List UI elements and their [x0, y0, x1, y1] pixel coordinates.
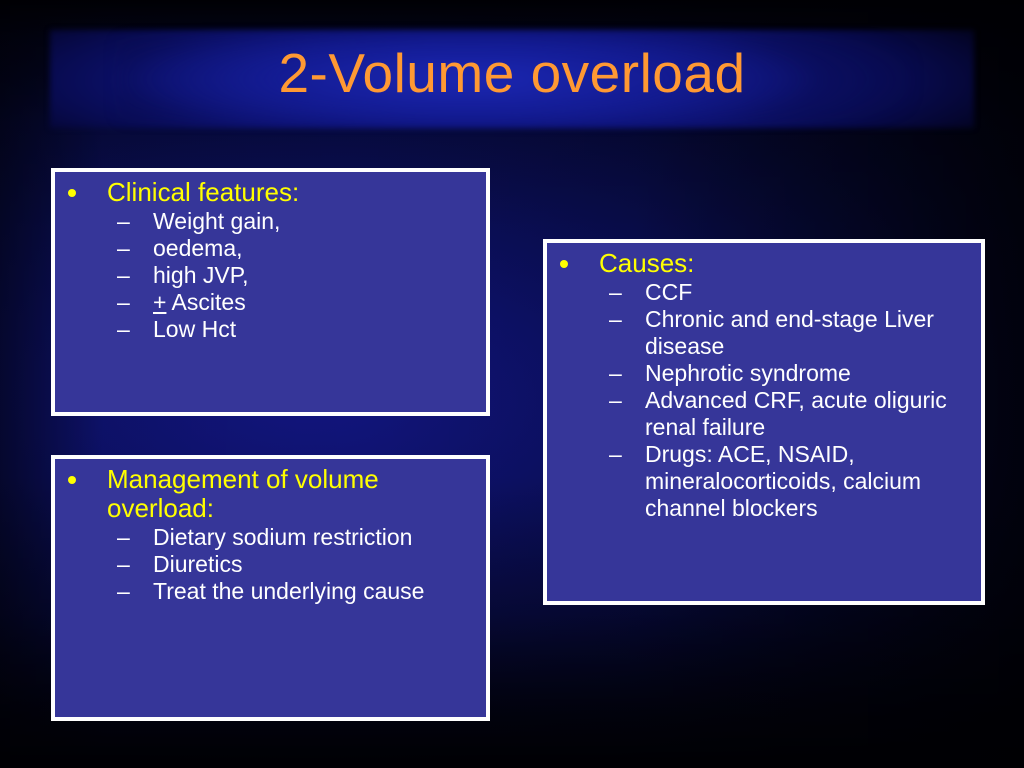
en-dash-icon: – — [609, 387, 622, 414]
en-dash-icon: – — [609, 306, 622, 333]
list-item: – Weight gain, — [61, 208, 478, 235]
list-item-label: Low Hct — [153, 316, 236, 342]
en-dash-icon: – — [117, 524, 130, 551]
list-item-label: oedema, — [153, 235, 243, 261]
en-dash-icon: – — [609, 360, 622, 387]
causes-content: Causes: – CCF – Chronic and end-stage Li… — [547, 243, 981, 528]
list-item: – Diuretics — [61, 551, 478, 578]
en-dash-icon: – — [609, 279, 622, 306]
list-item: – Drugs: ACE, NSAID, mineralocorticoids,… — [553, 441, 973, 522]
en-dash-icon: – — [117, 578, 130, 605]
list-item: – oedema, — [61, 235, 478, 262]
management-heading: Management of volume overload: — [61, 465, 478, 523]
list-item-label: high JVP, — [153, 262, 248, 288]
list-item: – Low Hct — [61, 316, 478, 343]
list-item-label: Ascites — [166, 289, 245, 315]
causes-heading: Causes: — [553, 249, 973, 278]
list-item: – Advanced CRF, acute oliguric renal fai… — [553, 387, 973, 441]
bullet-dot-icon — [68, 189, 76, 197]
list-item-label: Weight gain, — [153, 208, 280, 234]
en-dash-icon: – — [117, 551, 130, 578]
management-content: Management of volume overload: – Dietary… — [55, 459, 486, 611]
list-item: – Dietary sodium restriction — [61, 524, 478, 551]
list-item-label: Treat the underlying cause — [153, 578, 424, 604]
list-item: – Chronic and end-stage Liver disease — [553, 306, 973, 360]
list-item-label: CCF — [645, 279, 692, 305]
list-item-label: Diuretics — [153, 551, 242, 577]
list-item: – + Ascites — [61, 289, 478, 316]
clinical-features-box: Clinical features: – Weight gain, – oede… — [51, 168, 490, 416]
en-dash-icon: – — [117, 262, 130, 289]
en-dash-icon: – — [117, 289, 130, 316]
en-dash-icon: – — [117, 235, 130, 262]
list-item: – CCF — [553, 279, 973, 306]
list-item-label: Drugs: ACE, NSAID, mineralocorticoids, c… — [645, 441, 921, 521]
causes-box: Causes: – CCF – Chronic and end-stage Li… — [543, 239, 985, 605]
management-heading-label: Management of volume overload: — [107, 464, 379, 523]
en-dash-icon: – — [609, 441, 622, 468]
clinical-features-content: Clinical features: – Weight gain, – oede… — [55, 172, 486, 349]
causes-heading-label: Causes: — [599, 248, 694, 278]
bullet-dot-icon — [68, 476, 76, 484]
list-item-label: Dietary sodium restriction — [153, 524, 412, 550]
slide-canvas: 2-Volume overload Clinical features: – W… — [0, 0, 1024, 768]
bullet-dot-icon — [560, 260, 568, 268]
list-item: – high JVP, — [61, 262, 478, 289]
management-box: Management of volume overload: – Dietary… — [51, 455, 490, 721]
page-title: 2-Volume overload — [0, 45, 1024, 103]
list-item-label: Advanced CRF, acute oliguric renal failu… — [645, 387, 947, 440]
list-item: – Treat the underlying cause — [61, 578, 478, 605]
list-item-label: Nephrotic syndrome — [645, 360, 851, 386]
list-item: – Nephrotic syndrome — [553, 360, 973, 387]
plus-minus-symbol: + — [153, 289, 166, 315]
list-item-label: Chronic and end-stage Liver disease — [645, 306, 934, 359]
en-dash-icon: – — [117, 208, 130, 235]
en-dash-icon: – — [117, 316, 130, 343]
clinical-features-heading-label: Clinical features: — [107, 177, 299, 207]
clinical-features-heading: Clinical features: — [61, 178, 478, 207]
